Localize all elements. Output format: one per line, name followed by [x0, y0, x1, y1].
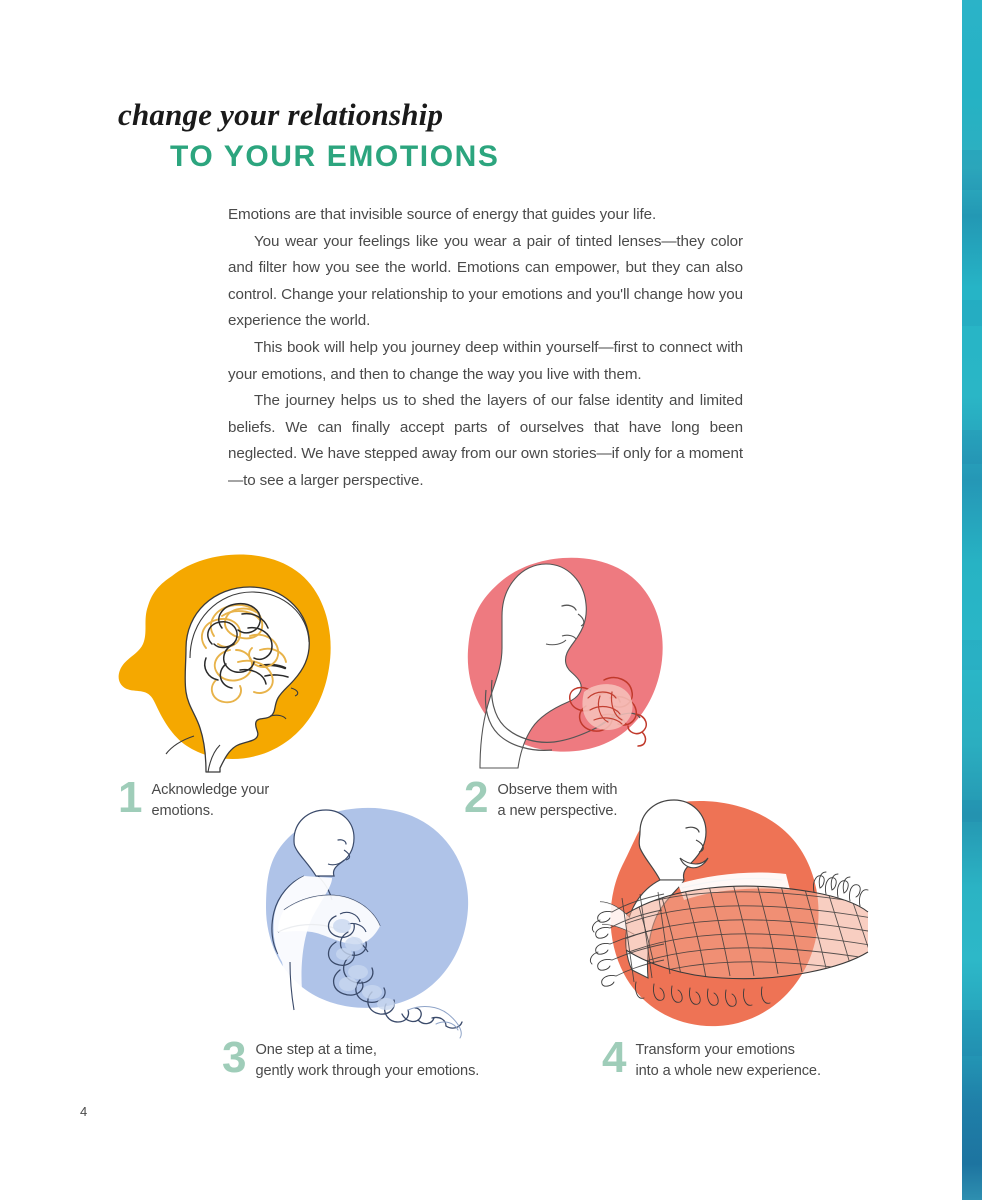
- step-number-3: 3: [222, 1038, 246, 1078]
- step-caption-2: 2 Observe them with a new perspective.: [464, 776, 617, 822]
- step-text-3: One step at a time, gently work through …: [255, 1036, 479, 1082]
- book-page: change your relationship TO YOUR EMOTION…: [0, 0, 982, 1200]
- body-paragraph-4: The journey helps us to shed the layers …: [228, 388, 743, 494]
- step-number-4: 4: [602, 1038, 626, 1078]
- illustration-person-holding-woven-net: [582, 792, 872, 1042]
- body-paragraph-3: This book will help you journey deep wit…: [228, 335, 743, 388]
- step-number-1: 1: [118, 778, 142, 818]
- body-paragraph-2: You wear your feelings like you wear a p…: [228, 229, 743, 335]
- step-text-2: Observe them with a new perspective.: [497, 776, 617, 822]
- illustration-person-holding-tangle: [450, 540, 680, 780]
- step-text-1: Acknowledge your emotions.: [151, 776, 269, 822]
- illustration-head-with-tangled-thoughts: [110, 540, 350, 780]
- page-edge-gradient-strip: [962, 0, 982, 1200]
- page-number: 4: [80, 1104, 87, 1119]
- body-copy: Emotions are that invisible source of en…: [228, 202, 743, 495]
- body-paragraph-1: Emotions are that invisible source of en…: [228, 202, 743, 229]
- step-caption-3: 3 One step at a time, gently work throug…: [222, 1036, 479, 1082]
- step-text-4: Transform your emotions into a whole new…: [635, 1036, 820, 1082]
- step-caption-1: 1 Acknowledge your emotions.: [118, 776, 269, 822]
- illustration-person-unraveling-thread: [232, 792, 512, 1042]
- step-caption-4: 4 Transform your emotions into a whole n…: [602, 1036, 821, 1082]
- page-title-script: change your relationship: [118, 97, 443, 133]
- page-title-caps: TO YOUR EMOTIONS: [170, 140, 500, 174]
- step-number-2: 2: [464, 778, 488, 818]
